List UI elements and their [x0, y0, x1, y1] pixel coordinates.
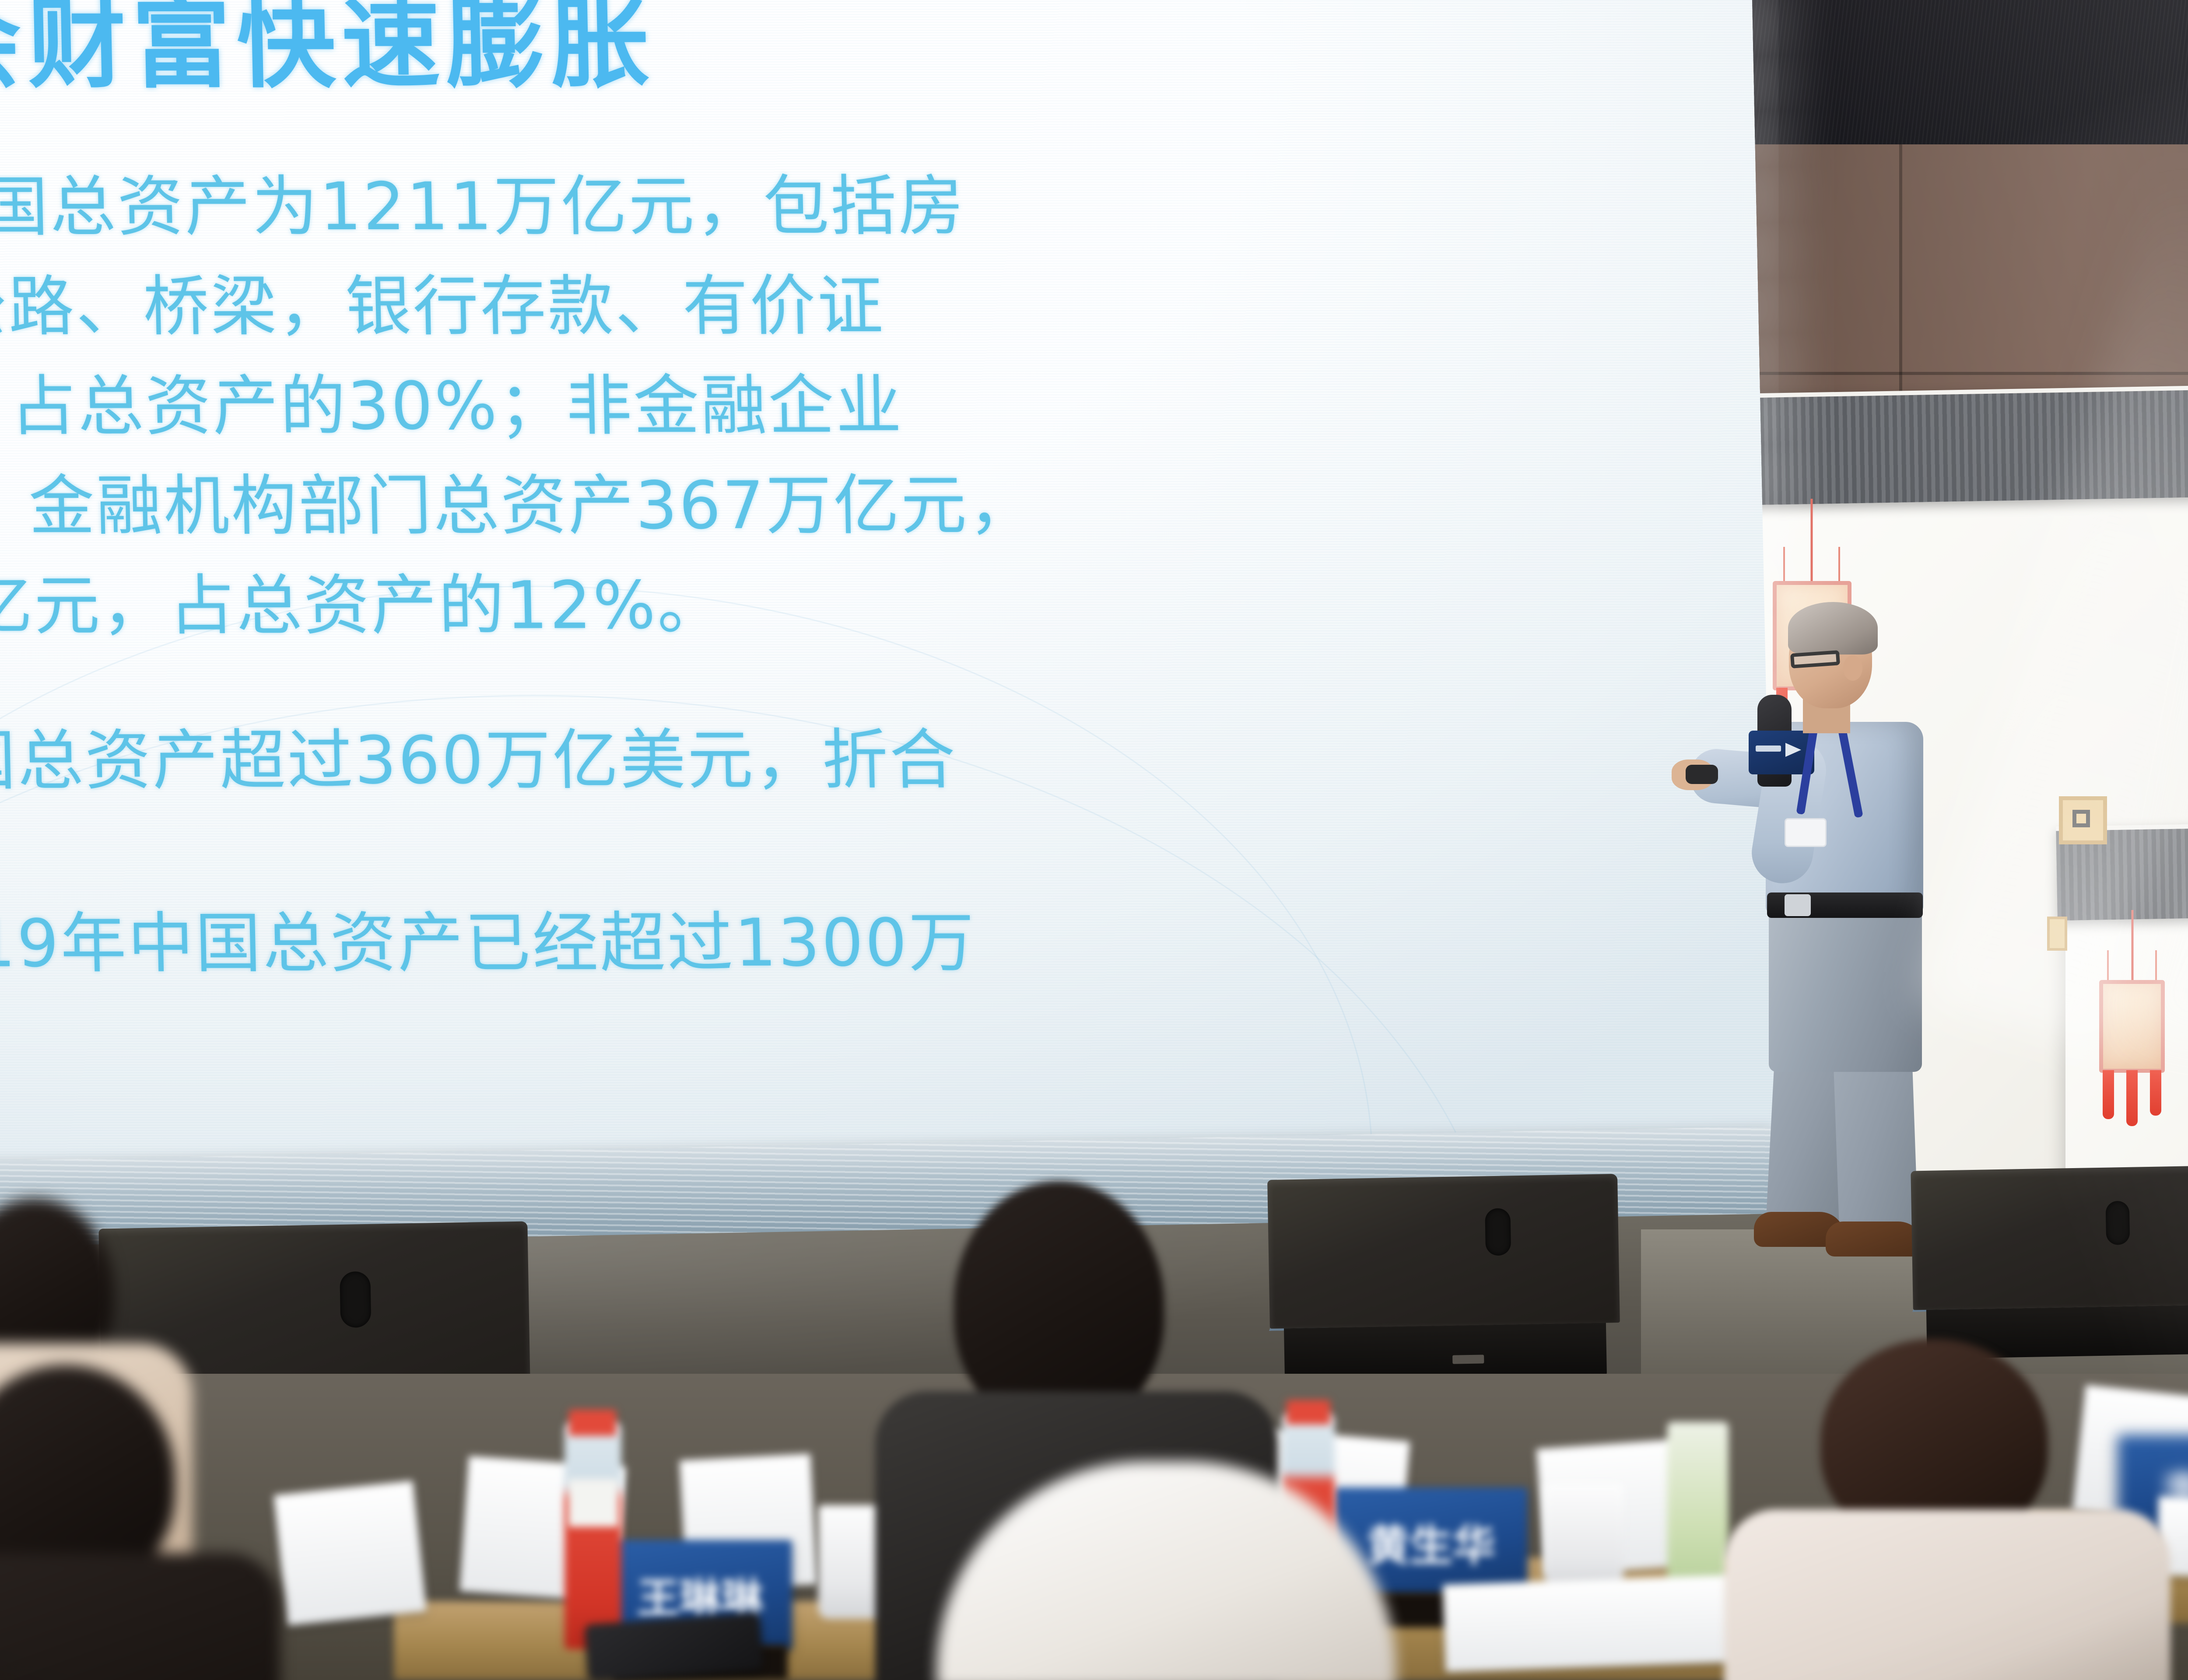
presenter-clicker: [1686, 765, 1718, 784]
bottle-cap-center: [1287, 1400, 1330, 1424]
university-logo: 管理学院 SCHOOL OF MANAGEMENT ZHEJIANG UNIVE…: [952, 0, 1553, 4]
bottle-cap-left: [569, 1410, 616, 1436]
water-bottle-left: [565, 1422, 621, 1649]
presenter-pants: [1769, 897, 1922, 1072]
notepad-center: [1443, 1574, 1752, 1672]
presenter-hair: [1788, 602, 1878, 654]
logo-text-block: 管理学院 SCHOOL OF MANAGEMENT ZHEJIANG UNIVE…: [1076, 0, 1553, 1]
slide-line-4: 28%；金融机构部门总资产367万亿元，: [0, 455, 1737, 556]
slide-line-2: 路、公路、桥梁，银行存款、有价证: [0, 255, 1733, 357]
slide-line-6: 年美国总资产超过360万亿美元，折合: [0, 710, 1742, 811]
smartphone-on-table[interactable]: [585, 1613, 763, 1680]
slide-line-3: 亿元，占总资产的30%；非金融企业: [0, 355, 1735, 457]
paper-cup-center: [1545, 1483, 1623, 1592]
slide-title: 社会财富快速膨胀: [0, 0, 656, 94]
bottle-label-left: [568, 1479, 619, 1527]
presenter-belt-buckle: [1785, 894, 1811, 916]
slide-content: 管理学院 SCHOOL OF MANAGEMENT ZHEJIANG UNIVE…: [0, 0, 1778, 1260]
audience-person-center-front: [936, 1461, 1396, 1680]
slide-line-5: 46万亿元，占总资产的12%。: [0, 555, 1739, 656]
slide-line-7: ，2019年中国总资产已经超过1300万: [0, 892, 1746, 994]
stage-monitor-2: [1267, 1174, 1621, 1381]
presenter-badge: [1785, 818, 1827, 847]
chair-back-1: [273, 1480, 427, 1626]
audience-person-left: [0, 1365, 245, 1680]
presenter-shoe-front: [1826, 1221, 1924, 1256]
audience-person-right: [1742, 1339, 2135, 1680]
logo-english-line-2: ZHEJIANG UNIVERSITY: [1080, 0, 1553, 1]
slide-body-text: 6年中国总资产为1211万亿元，包括房 路、公路、桥梁，银行存款、有价证 亿元，…: [0, 156, 1746, 994]
conference-presentation-photo: 管理学院 SCHOOL OF MANAGEMENT ZHEJIANG UNIVE…: [0, 0, 2188, 1680]
presenter-ear: [1843, 655, 1862, 681]
stage-monitor-3: [1911, 1165, 2188, 1359]
projection-screen: 管理学院 SCHOOL OF MANAGEMENT ZHEJIANG UNIVE…: [0, 0, 1778, 1260]
slide-line-1: 6年中国总资产为1211万亿元，包括房: [0, 156, 1731, 257]
